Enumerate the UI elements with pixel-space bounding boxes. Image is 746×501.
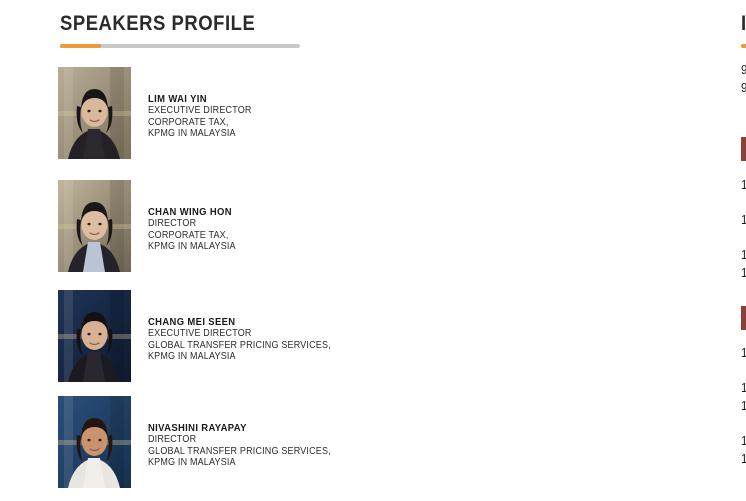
session-one-header-bar: SESSION ONE : CORPORATE TAX — [741, 137, 746, 161]
speaker-entry: NIVASHINI RAYAPAYDIRECTORGLOBAL TRANSFER… — [58, 396, 351, 488]
speaker-department: GLOBAL TRANSFER PRICING SERVICES, — [148, 340, 331, 352]
speaker-role: EXECUTIVE DIRECTOR — [148, 105, 252, 117]
speaker-name: CHANG MEI SEEN — [148, 316, 331, 328]
speaker-entry: CHAN WING HONDIRECTORCORPORATE TAX,KPMG … — [58, 180, 245, 272]
session-one-rows: 10.00 AMCOMMON TAX ISSUES FOR PROPERTYDE… — [741, 177, 746, 283]
itinerary-row: 11.20 AM“5WS” OF TRANSFER PRICING & RECE… — [741, 345, 746, 379]
itinerary-row-time: 11.20 AM — [741, 345, 746, 362]
speaker-role: EXECUTIVE DIRECTOR — [148, 328, 331, 340]
speaker-entry: LIM WAI YINEXECUTIVE DIRECTORCORPORATE T… — [58, 67, 263, 159]
itinerary-opening-rows: 9.30 AMOPENING OF ZOOM WEBINAR9.55 AMOPE… — [741, 62, 746, 115]
speaker-photo — [58, 396, 131, 488]
itinerary-row-time: 12.25 AM — [741, 433, 746, 450]
itinerary-title-divider — [741, 44, 746, 48]
itinerary-row-time: 11.50 AM — [741, 380, 746, 397]
itinerary-row-time: 11.00 AM — [741, 247, 746, 264]
speaker-name: CHAN WING HON — [148, 206, 236, 218]
itinerary-row: 12.40 PMEND OF WEBINAR — [741, 451, 746, 468]
speaker-photo — [58, 290, 131, 382]
speaker-role: DIRECTOR — [148, 218, 236, 230]
itinerary-row-time: 11.05 AM — [741, 265, 746, 282]
itinerary-row: 10.30 AMTAXING PROPERTY TRANSACTIONS -RP… — [741, 212, 746, 246]
itinerary-row: 12.25 AMQ&A SESSION — [741, 433, 746, 450]
speaker-department: GLOBAL TRANSFER PRICING SERVICES, — [148, 446, 331, 458]
divider-accent-segment — [741, 44, 746, 48]
itinerary-row: 10.00 AMCOMMON TAX ISSUES FOR PROPERTYDE… — [741, 177, 746, 211]
itinerary-row-time: 10.30 AM — [741, 212, 746, 229]
itinerary-row: 11.55 AMPANEL DISCUSSION: ARM'S LENGTHCO… — [741, 398, 746, 432]
speaker-company: KPMG IN MALAYSIA — [148, 128, 252, 140]
speaker-name: LIM WAI YIN — [148, 93, 252, 105]
poster-body: SPEAKERS PROFILE LIM WAI YINEXECUTIVE DI… — [0, 0, 746, 501]
speaker-entry: CHANG MEI SEENEXECUTIVE DIRECTORGLOBAL T… — [58, 290, 351, 382]
speakers-panel-title: SPEAKERS PROFILE — [60, 12, 255, 36]
itinerary-row: 9.55 AMOPENING REMARKS BY REHDAINSTITUTE… — [741, 80, 746, 114]
itinerary-row: 9.30 AMOPENING OF ZOOM WEBINAR — [741, 62, 746, 79]
speakers-title-divider — [60, 44, 300, 48]
speaker-photo — [58, 67, 131, 159]
itinerary-row-time: 11.55 AM — [741, 398, 746, 415]
speaker-company: KPMG IN MALAYSIA — [148, 351, 331, 363]
speaker-details: LIM WAI YINEXECUTIVE DIRECTORCORPORATE T… — [148, 67, 252, 140]
speaker-role: DIRECTOR — [148, 434, 331, 446]
speaker-department: CORPORATE TAX, — [148, 117, 252, 129]
speaker-details: CHAN WING HONDIRECTORCORPORATE TAX,KPMG … — [148, 180, 236, 253]
itinerary-row: 11.50 AMBREAK — [741, 380, 746, 397]
speaker-details: NIVASHINI RAYAPAYDIRECTORGLOBAL TRANSFER… — [148, 396, 331, 469]
itinerary-row-time: 9.30 AM — [741, 62, 746, 79]
session-two-rows: 11.20 AM“5WS” OF TRANSFER PRICING & RECE… — [741, 345, 746, 469]
itinerary-row-time: 10.00 AM — [741, 177, 746, 194]
speaker-name: NIVASHINI RAYAPAY — [148, 422, 331, 434]
itinerary-row: 11.05 AMQ&A SESSION — [741, 265, 746, 282]
speaker-company: KPMG IN MALAYSIA — [148, 457, 331, 469]
itinerary-panel-title: ITINERARY — [741, 12, 746, 36]
divider-accent-segment — [60, 44, 101, 48]
speaker-photo — [58, 180, 131, 272]
speaker-department: CORPORATE TAX, — [148, 230, 236, 242]
speakers-panel: SPEAKERS PROFILE LIM WAI YINEXECUTIVE DI… — [0, 0, 360, 501]
session-two-header-bar: SESSION TWO : TRANSFER PRICING — [741, 306, 746, 330]
speaker-company: KPMG IN MALAYSIA — [148, 241, 236, 253]
itinerary-panel: ITINERARY 9.30 AMOPENING OF ZOOM WEBINAR… — [360, 0, 746, 501]
itinerary-row-time: 12.40 PM — [741, 451, 746, 468]
itinerary-row: 11.00 AMBREAK — [741, 247, 746, 264]
speaker-details: CHANG MEI SEENEXECUTIVE DIRECTORGLOBAL T… — [148, 290, 331, 363]
itinerary-row-time: 9.55 AM — [741, 80, 746, 97]
